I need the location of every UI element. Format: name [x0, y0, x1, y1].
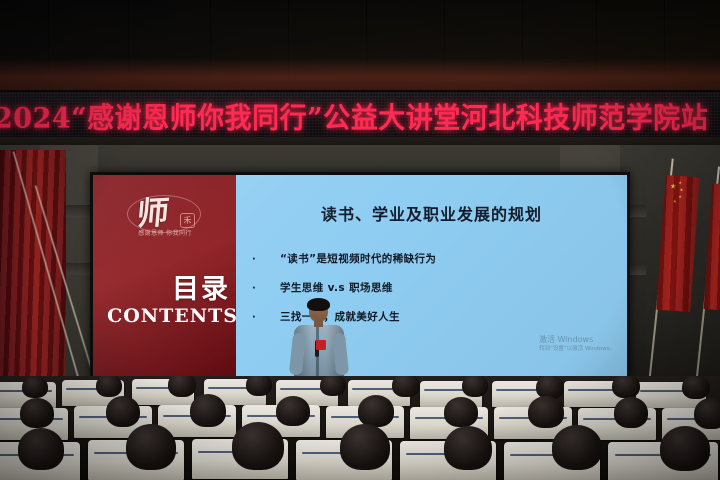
- hall-upper-wall: [0, 0, 720, 92]
- presentation-slide[interactable]: 师 禾 感谢恩师 你我同行 目录 CONTENTS 读书、学业及职业发展的规划 …: [93, 175, 627, 377]
- bullet-marker-icon: ·: [252, 254, 280, 265]
- logo-subtitle: 感谢恩师 你我同行: [133, 230, 197, 237]
- led-banner: 2024“感谢恩师你我同行”公益大讲堂河北科技师范学院站: [0, 90, 720, 141]
- presenter-speaker: [291, 300, 347, 386]
- slide-contents-panel: 师 禾 感谢恩师 你我同行 目录 CONTENTS: [93, 175, 236, 377]
- watermark-title: 激活 Windows: [539, 335, 615, 345]
- contents-heading-en: CONTENTS: [107, 306, 236, 327]
- stage-curtain-left: [0, 150, 66, 400]
- microphone-logo-flag: [316, 340, 326, 350]
- windows-activation-watermark: 激活 Windows 转到“设置”以激活 Windows。: [539, 335, 615, 353]
- contents-heading-zh: 目录: [172, 275, 230, 304]
- audience-seating: [0, 376, 720, 480]
- watermark-subtitle: 转到“设置”以激活 Windows。: [539, 345, 615, 353]
- bullet-marker-icon: ·: [252, 312, 280, 323]
- slide-title: 读书、学业及职业发展的规划: [236, 201, 627, 225]
- organization-logo: 师 禾 感谢恩师 你我同行: [123, 193, 207, 249]
- lecture-hall-photo: 2024“感谢恩师你我同行”公益大讲堂河北科技师范学院站 ★ ★ ★ ★ ★ 师…: [0, 0, 720, 480]
- bullet-marker-icon: ·: [252, 283, 280, 294]
- list-item: · “读书”是短视频时代的稀缺行为: [252, 251, 617, 266]
- logo-character: 师: [135, 196, 170, 230]
- logo-seal-icon: 禾: [180, 213, 195, 228]
- bullet-text: 学生思维 v.s 职场思维: [280, 280, 393, 295]
- list-item: · 学生思维 v.s 职场思维: [252, 280, 617, 295]
- projection-screen-frame: 师 禾 感谢恩师 你我同行 目录 CONTENTS 读书、学业及职业发展的规划 …: [90, 172, 630, 380]
- led-banner-text: 2024“感谢恩师你我同行”公益大讲堂河北科技师范学院站: [0, 95, 708, 136]
- bullet-text: “读书”是短视频时代的稀缺行为: [280, 251, 436, 266]
